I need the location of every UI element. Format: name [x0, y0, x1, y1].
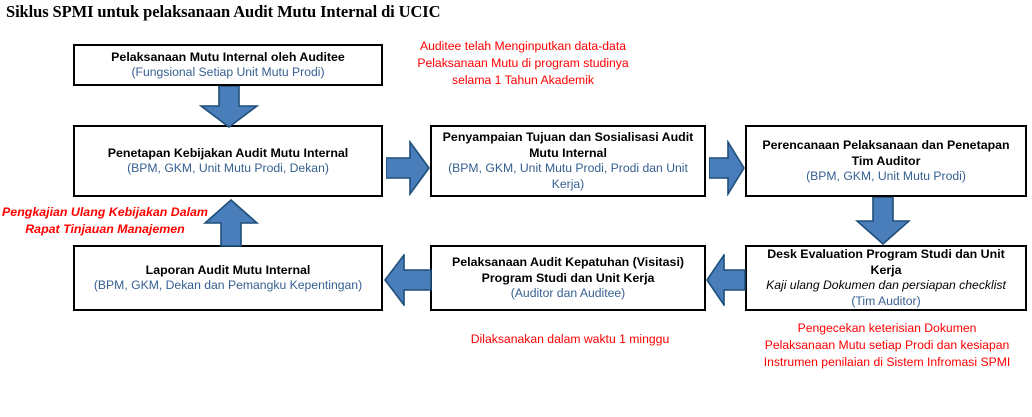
box-line-actors: (BPM, GKM, Unit Mutu Prodi, Prodi dan Un…: [436, 161, 700, 193]
box-line-title: Pelaksanaan Mutu Internal oleh Auditee: [79, 49, 377, 65]
arrow-up-laporan-to-penetapan: [203, 199, 259, 247]
arrow-right-penyampaian-to-perencanaan: [709, 140, 745, 196]
arrow-down-perencanaan-to-desk: [855, 197, 911, 245]
flowchart-canvas: Siklus SPMI untuk pelaksanaan Audit Mutu…: [0, 0, 1032, 417]
box-line-detail: Kaji ulang Dokumen dan persiapan checkli…: [751, 278, 1021, 294]
box-line-title: Pelaksanaan Audit Kepatuhan (Visitasi) P…: [436, 254, 700, 286]
arrow-right-penetapan-to-penyampaian: [386, 140, 430, 196]
box-line-title: Penetapan Kebijakan Audit Mutu Internal: [79, 145, 377, 161]
process-box-penyampaian-tujuan[interactable]: Penyampaian Tujuan dan Sosialisasi Audit…: [430, 125, 706, 197]
box-line-title: Laporan Audit Mutu Internal: [79, 262, 377, 278]
process-box-desk-evaluation[interactable]: Desk Evaluation Program Studi dan Unit K…: [745, 245, 1027, 311]
box-line-actors: (Fungsional Setiap Unit Mutu Prodi): [79, 65, 377, 81]
box-line-actors: (BPM, GKM, Unit Mutu Prodi): [751, 169, 1021, 185]
box-line-title: Perencanaan Pelaksanaan dan Penetapan Ti…: [751, 137, 1021, 169]
process-box-penetapan-kebijakan[interactable]: Penetapan Kebijakan Audit Mutu Internal …: [73, 125, 383, 197]
note-left-loop: Pengkajian Ulang Kebijakan Dalam Rapat T…: [0, 204, 210, 238]
box-line-title: Desk Evaluation Program Studi dan Unit K…: [751, 246, 1021, 278]
note-top-right: Auditee telah Menginputkan data-data Pel…: [398, 38, 648, 88]
box-line-actors: (Auditor dan Auditee): [436, 286, 700, 302]
process-box-pelaksanaan-mutu-internal[interactable]: Pelaksanaan Mutu Internal oleh Auditee (…: [73, 44, 383, 86]
box-line-actors: (BPM, GKM, Unit Mutu Prodi, Dekan): [79, 161, 377, 177]
arrow-left-visitasi-to-laporan: [384, 254, 432, 306]
process-box-laporan-audit[interactable]: Laporan Audit Mutu Internal (BPM, GKM, D…: [73, 245, 383, 311]
process-box-perencanaan-pelaksanaan[interactable]: Perencanaan Pelaksanaan dan Penetapan Ti…: [745, 125, 1027, 197]
arrow-left-desk-to-visitasi: [706, 254, 746, 306]
process-box-pelaksanaan-audit-kepatuhan[interactable]: Pelaksanaan Audit Kepatuhan (Visitasi) P…: [430, 245, 706, 311]
note-bottom-center: Dilaksanakan dalam waktu 1 minggu: [440, 331, 700, 348]
box-line-actors: (Tim Auditor): [751, 294, 1021, 310]
arrow-down-pelaksanaan-to-penetapan: [199, 86, 259, 128]
box-line-title: Penyampaian Tujuan dan Sosialisasi Audit…: [436, 129, 700, 161]
note-bottom-right: Pengecekan keterisian Dokumen Pelaksanaa…: [742, 320, 1032, 370]
box-line-actors: (BPM, GKM, Dekan dan Pemangku Kepentinga…: [79, 278, 377, 294]
page-title: Siklus SPMI untuk pelaksanaan Audit Mutu…: [6, 2, 440, 22]
